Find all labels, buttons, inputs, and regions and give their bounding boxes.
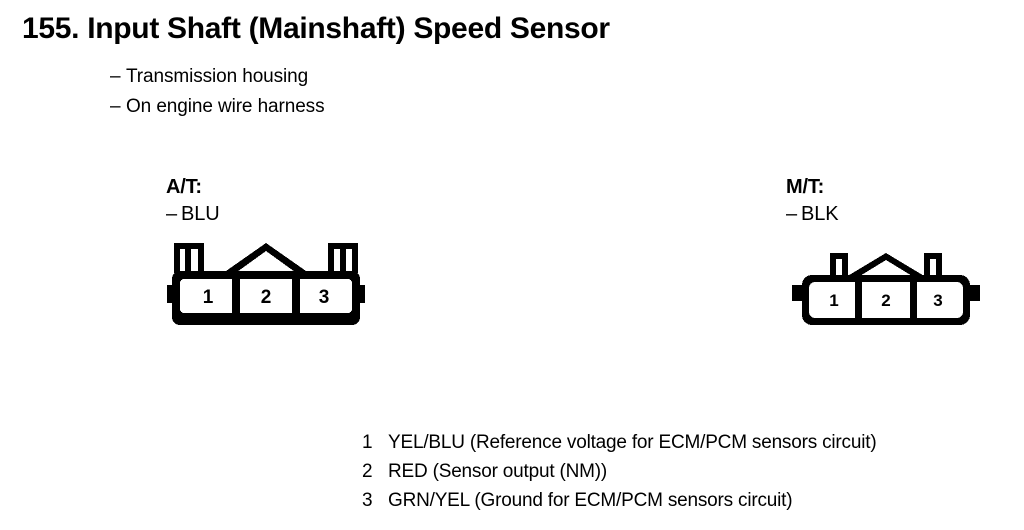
connector-at-wire-color: –BLU bbox=[166, 199, 366, 229]
list-item-label: On engine wire harness bbox=[126, 96, 324, 117]
connector-mt-tab-left bbox=[830, 253, 848, 277]
legend-pin-number: 3 bbox=[362, 486, 388, 515]
connector-at-tab-right bbox=[328, 243, 358, 273]
connector-at-label: A/T: bbox=[166, 175, 366, 199]
list-dash: – bbox=[110, 62, 126, 92]
connector-at: A/T: –BLU bbox=[166, 175, 366, 329]
wire-color-value: BLU bbox=[181, 203, 220, 225]
connector-mt-label: M/T: bbox=[786, 175, 986, 199]
connector-at-pin-1: 1 bbox=[203, 287, 214, 308]
connector-at-diagram: 1 2 3 bbox=[166, 237, 366, 329]
manual-page: 155. Input Shaft (Mainshaft) Speed Senso… bbox=[0, 0, 1024, 530]
legend-pin-description: GRN/YEL (Ground for ECM/PCM sensors circ… bbox=[388, 490, 792, 511]
connector-at-tab-left bbox=[174, 243, 204, 273]
list-item: –On engine wire harness bbox=[110, 92, 324, 122]
legend-pin-number: 2 bbox=[362, 457, 388, 486]
connector-mt-diagram: 1 2 3 bbox=[786, 249, 986, 329]
legend-pin-description: YEL/BLU (Reference voltage for ECM/PCM s… bbox=[388, 432, 876, 453]
connector-at-pin-3: 3 bbox=[319, 287, 330, 308]
location-list: –Transmission housing –On engine wire ha… bbox=[110, 62, 324, 122]
connector-mt-pin-2: 2 bbox=[881, 291, 890, 310]
wire-color-dash: – bbox=[786, 199, 801, 229]
list-dash: – bbox=[110, 92, 126, 122]
legend-row: 3GRN/YEL (Ground for ECM/PCM sensors cir… bbox=[362, 486, 876, 515]
connector-mt: M/T: –BLK bbox=[786, 175, 986, 329]
legend-row: 1YEL/BLU (Reference voltage for ECM/PCM … bbox=[362, 428, 876, 457]
page-title: 155. Input Shaft (Mainshaft) Speed Senso… bbox=[22, 11, 610, 47]
list-item-label: Transmission housing bbox=[126, 66, 308, 87]
connector-at-pin-2: 2 bbox=[261, 287, 272, 308]
connector-mt-pin-1: 1 bbox=[829, 291, 838, 310]
connector-mt-tab-right bbox=[924, 253, 942, 277]
legend-row: 2RED (Sensor output (NM)) bbox=[362, 457, 876, 486]
list-item: –Transmission housing bbox=[110, 62, 324, 92]
wire-color-dash: – bbox=[166, 199, 181, 229]
connector-mt-wire-color: –BLK bbox=[786, 199, 986, 229]
legend-pin-number: 1 bbox=[362, 428, 388, 457]
connector-mt-pin-3: 3 bbox=[933, 291, 942, 310]
wire-color-value: BLK bbox=[801, 203, 839, 225]
legend-pin-description: RED (Sensor output (NM)) bbox=[388, 461, 607, 482]
pin-legend: 1YEL/BLU (Reference voltage for ECM/PCM … bbox=[362, 428, 876, 515]
